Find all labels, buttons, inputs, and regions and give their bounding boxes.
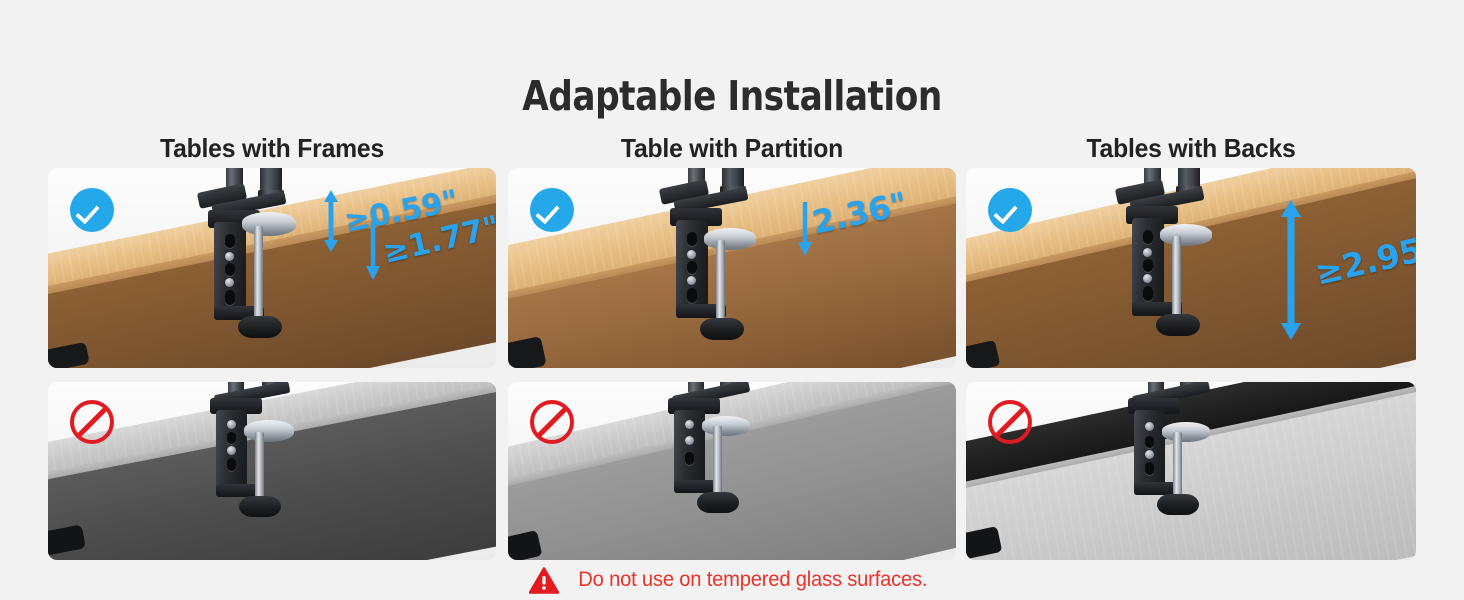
- clamp-pressure-disc: [702, 416, 750, 436]
- column-header-frames: Tables with Frames: [59, 133, 485, 164]
- page-title: Adaptable Installation: [51, 72, 1413, 120]
- check-circle-icon: [988, 188, 1032, 232]
- clamp-pressure-disc: [244, 420, 294, 442]
- scene-frames-allowed: ≥0.59" ≥1.77": [48, 168, 496, 368]
- scene-backs-not-allowed: [966, 382, 1416, 560]
- clamp-screw-shaft: [254, 226, 263, 324]
- check-circle-icon: [70, 188, 114, 232]
- clamp-slot-3: [687, 288, 697, 303]
- clamp-slot-1: [687, 232, 697, 246]
- clamp-slot-3: [225, 290, 235, 305]
- clamp-screw-shaft: [255, 432, 264, 504]
- clamp-slot-3: [1143, 286, 1153, 301]
- clamp-pressure-disc: [704, 228, 756, 250]
- check-circle-icon: [530, 188, 574, 232]
- partition-panel: [508, 336, 547, 368]
- monitor-clamp-assembly: [1116, 168, 1246, 368]
- scene-partition-allowed: 2.36": [508, 168, 956, 368]
- clamp-slot-2: [687, 261, 697, 274]
- warning-footer: Do not use on tempered glass surfaces.: [0, 560, 1464, 600]
- column-header-backs: Tables with Backs: [977, 133, 1405, 164]
- dimension-arrow-177: [364, 220, 382, 280]
- clamp-screw-1: [227, 420, 236, 429]
- infographic-root: Adaptable Installation Tables with Frame…: [0, 0, 1464, 600]
- panel-bottom-partition: [508, 382, 956, 560]
- clamp-screw-2: [685, 436, 694, 445]
- clamp-slot-1: [1143, 230, 1153, 244]
- clamp-slot-1: [1145, 436, 1154, 448]
- clamp-pressure-disc: [1162, 422, 1210, 442]
- clamp-screw-2: [227, 446, 236, 455]
- panel-top-frames: ≥0.59" ≥1.77": [48, 168, 496, 368]
- clamp-slot-2: [1143, 259, 1153, 272]
- clamp-pressure-disc: [242, 212, 296, 236]
- monitor-clamp-assembly: [198, 168, 328, 368]
- panel-top-partition: 2.36": [508, 168, 956, 368]
- clamp-pressure-disc: [1160, 224, 1212, 246]
- prohibition-icon: [530, 400, 574, 444]
- scene-frames-not-allowed: [48, 382, 496, 560]
- clamp-slot-2: [1145, 462, 1154, 475]
- scene-backs-allowed: ≥2.95": [966, 168, 1416, 368]
- dimension-arrow-295: [1278, 200, 1304, 340]
- prohibition-icon: [988, 400, 1032, 444]
- clamp-slot-2: [225, 263, 235, 276]
- clamp-knob: [700, 318, 744, 340]
- clamp-screw-1: [225, 252, 234, 261]
- clamp-screw-2: [225, 278, 234, 287]
- clamp-knob: [239, 496, 281, 517]
- monitor-clamp-assembly: [1120, 382, 1250, 556]
- clamp-knob: [1157, 494, 1199, 515]
- clamp-screw-1: [1145, 422, 1154, 431]
- monitor-clamp-assembly: [660, 168, 790, 368]
- clamp-screw-2: [1145, 450, 1154, 459]
- scene-partition-not-allowed: [508, 382, 956, 560]
- panel-bottom-frames: [48, 382, 496, 560]
- warning-text: Do not use on tempered glass surfaces.: [578, 568, 927, 592]
- clamp-screw-1: [1143, 248, 1152, 257]
- clamp-slot-2: [227, 458, 236, 471]
- prohibition-icon: [70, 400, 114, 444]
- clamp-slot-1: [225, 234, 235, 248]
- panel-top-backs: ≥2.95": [966, 168, 1416, 368]
- column-header-partition: Table with Partition: [519, 133, 945, 164]
- table-leg: [966, 340, 1000, 368]
- clamp-screw-shaft: [1172, 236, 1181, 322]
- monitor-clamp-assembly: [660, 382, 790, 556]
- warning-triangle-icon: [529, 567, 559, 594]
- monitor-clamp-assembly: [200, 382, 330, 558]
- panel-bottom-backs: [966, 382, 1416, 560]
- clamp-screw-2: [1143, 274, 1152, 283]
- clamp-screw-shaft: [713, 426, 722, 500]
- dimension-arrow-059: [320, 190, 342, 252]
- clamp-slot-1: [227, 432, 236, 444]
- clamp-screw-shaft: [716, 240, 725, 326]
- clamp-screw-1: [685, 420, 694, 429]
- clamp-knob: [1156, 314, 1200, 336]
- clamp-slot-1: [685, 452, 694, 465]
- clamp-screw-1: [687, 250, 696, 259]
- clamp-knob: [238, 316, 282, 338]
- clamp-knob: [697, 492, 739, 513]
- partition-panel: [508, 530, 542, 560]
- clamp-screw-2: [687, 276, 696, 285]
